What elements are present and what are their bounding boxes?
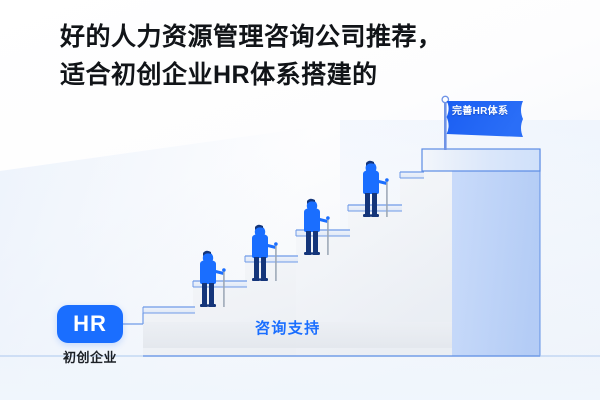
step-tread-6 — [400, 172, 424, 178]
headline-line-1: 好的人力资源管理咨询公司推荐， — [60, 18, 490, 56]
hr-badge-label: 初创企业 — [57, 347, 123, 366]
flag-label: 完善HR体系 — [452, 102, 508, 117]
headline-block: 好的人力资源管理咨询公司推荐， 适合初创企业HR体系搭建的 — [60, 18, 490, 94]
top-platform-block — [450, 150, 540, 356]
headline-line-2: 适合初创企业HR体系搭建的 — [60, 56, 490, 94]
step-caption: 咨询支持 — [255, 317, 321, 338]
badge-connector-line — [123, 313, 143, 324]
step-tread-1 — [143, 307, 195, 313]
top-platform-cap — [422, 149, 540, 171]
hr-badge: HR — [57, 305, 123, 343]
hr-badge-group: HR 初创企业 — [57, 305, 123, 366]
illustration-canvas: 好的人力资源管理咨询公司推荐， 适合初创企业HR体系搭建的 — [0, 0, 600, 400]
step-tread-4 — [296, 230, 350, 236]
